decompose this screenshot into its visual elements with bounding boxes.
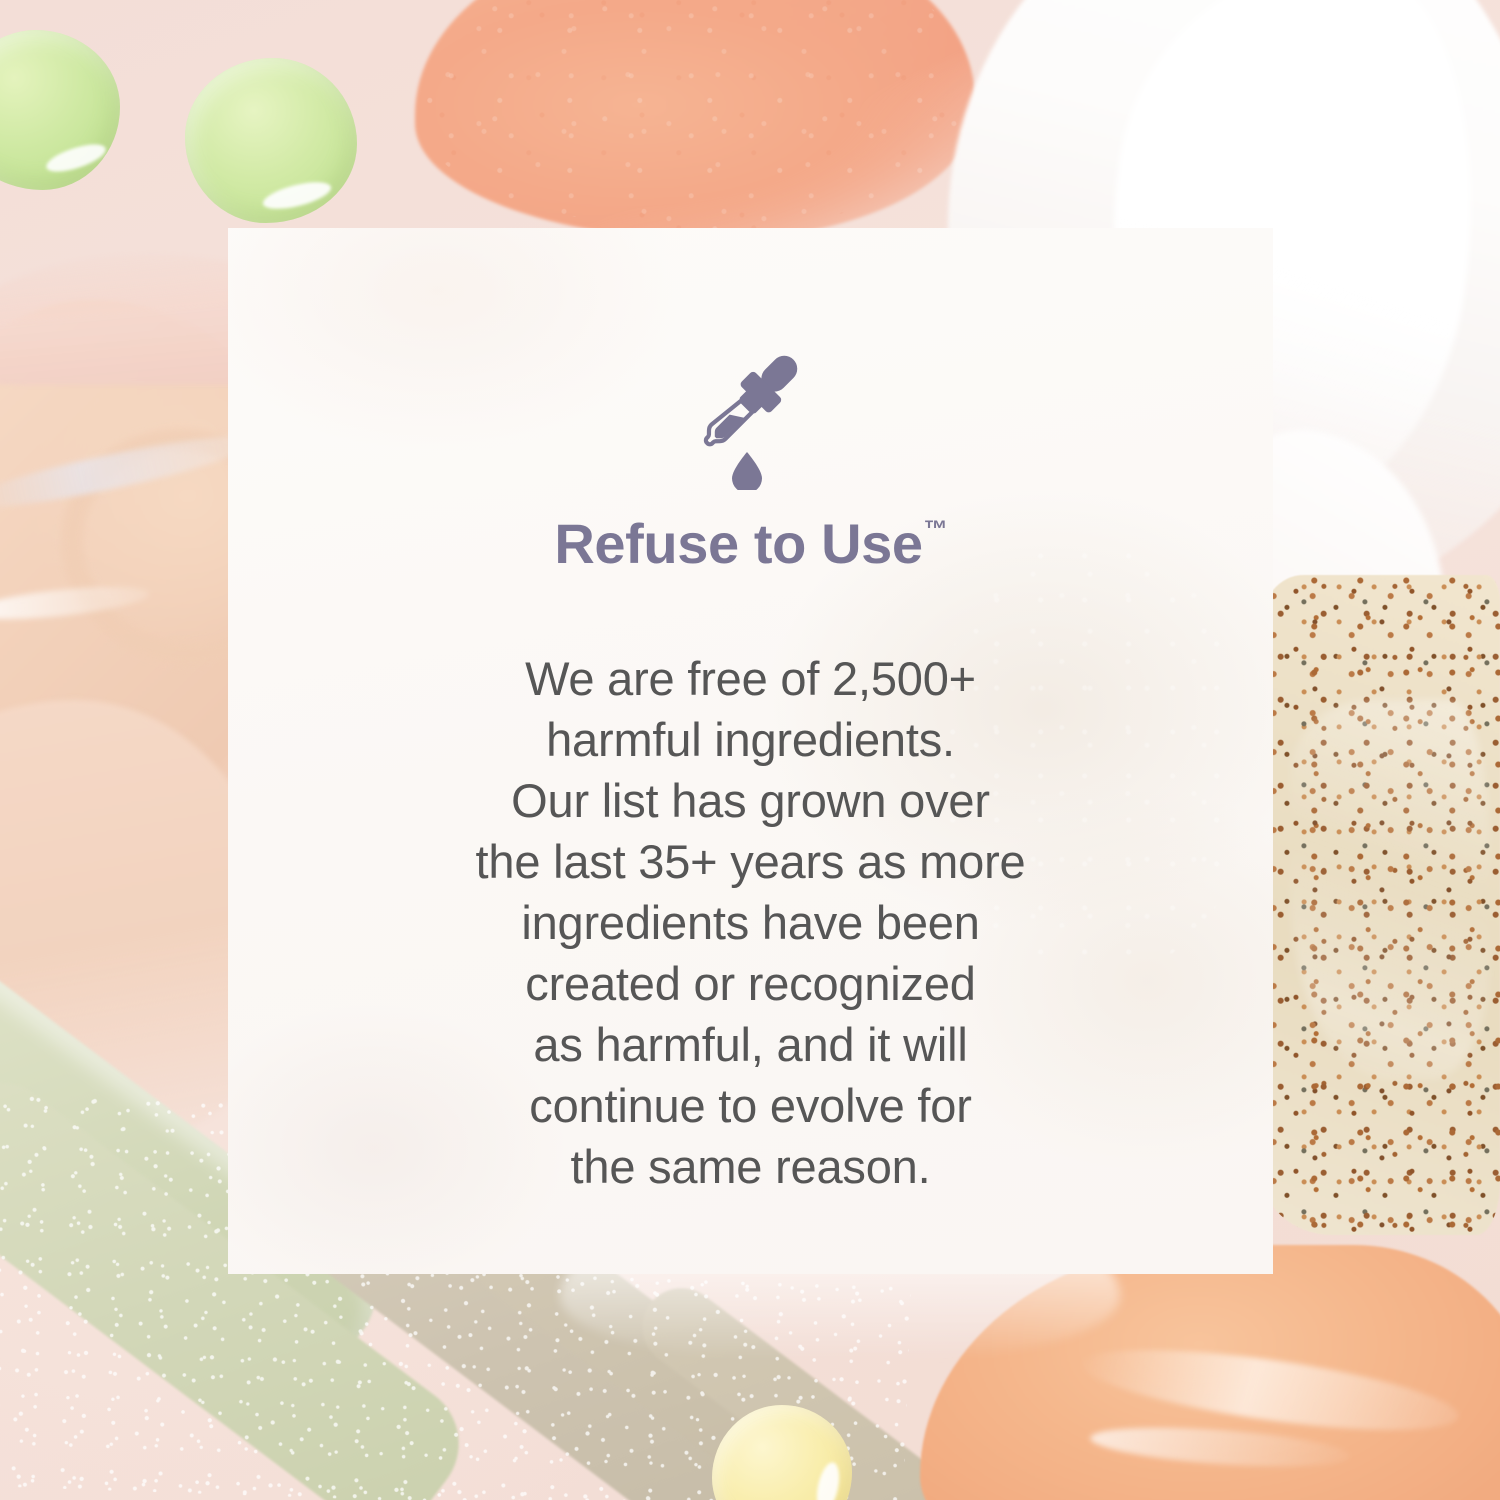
yellow-oil-drop-texture xyxy=(712,1405,852,1500)
body-line: harmful ingredients. xyxy=(421,709,1081,770)
body-line: as harmful, and it will xyxy=(421,1014,1081,1075)
body-line: We are free of 2,500+ xyxy=(421,648,1081,709)
card-body-text: We are free of 2,500+ harmful ingredient… xyxy=(421,648,1081,1198)
speckled-scrub-sheen xyxy=(1290,700,1490,1080)
body-line: Our list has grown over xyxy=(421,770,1081,831)
green-gel-drop-2-texture xyxy=(185,58,357,223)
nude-cream-gloss-highlight xyxy=(0,424,260,520)
peach-clay-grain-overlay xyxy=(420,0,970,230)
green-gel-drop-2-highlight xyxy=(260,177,333,214)
yellow-oil-drop-highlight xyxy=(813,1460,843,1500)
speckled-scrub-particles xyxy=(1260,575,1500,1235)
body-line: the same reason. xyxy=(421,1136,1081,1197)
peach-blob-gloss-highlight xyxy=(1078,1334,1463,1446)
promo-image-canvas: Refuse to Use™ We are free of 2,500+ har… xyxy=(0,0,1500,1500)
body-line: continue to evolve for xyxy=(421,1075,1081,1136)
green-gel-drop-1-highlight xyxy=(43,139,108,177)
page-title: Refuse to Use™ xyxy=(554,516,946,572)
trademark-symbol: ™ xyxy=(924,518,948,542)
body-line: the last 35+ years as more xyxy=(421,831,1081,892)
peach-cream-blob-bottom-right-texture xyxy=(920,1245,1500,1500)
speckled-scrub-right-texture xyxy=(1260,575,1500,1235)
peach-clay-smear-top-texture xyxy=(415,0,975,240)
taupe-shimmer-streak-3 xyxy=(627,1272,993,1500)
refuse-to-use-card: Refuse to Use™ We are free of 2,500+ har… xyxy=(228,228,1273,1274)
body-line: created or recognized xyxy=(421,953,1081,1014)
nude-cream-gloss-highlight-2 xyxy=(0,581,151,626)
body-line: ingredients have been xyxy=(421,892,1081,953)
card-title-text: Refuse to Use xyxy=(554,516,922,572)
dropper-pipette-icon xyxy=(680,340,822,490)
peach-blob-edge-shadow xyxy=(1034,1264,1088,1500)
peach-blob-gloss-highlight-2 xyxy=(1089,1421,1351,1473)
green-gel-drop-1-texture xyxy=(0,30,120,190)
